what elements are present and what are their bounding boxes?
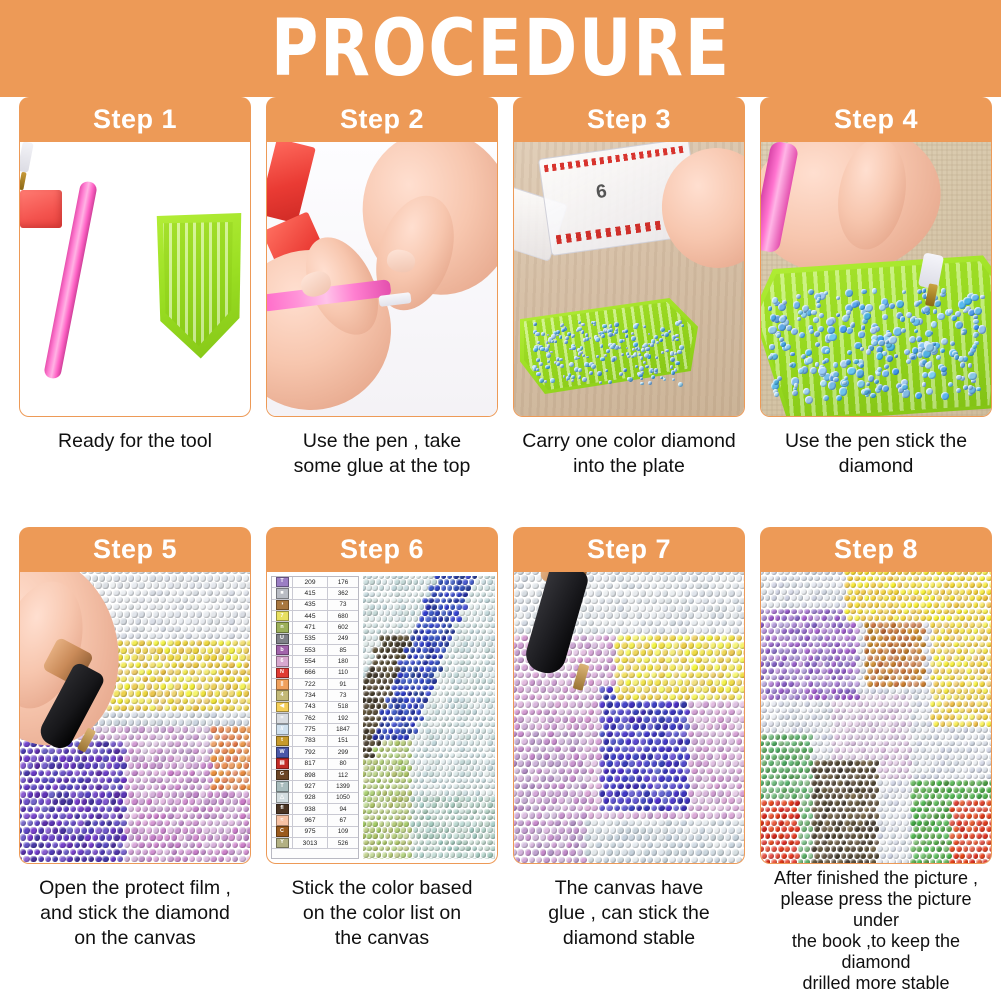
step-card-2[interactable]: Step 2 Use the pen , take some glu: [266, 97, 498, 479]
diamond-bead: [809, 329, 814, 334]
diamond-bead: [601, 334, 605, 338]
diamond-bead: [595, 337, 599, 341]
diamond-bead: [823, 395, 829, 401]
diamond-bead: [790, 352, 794, 356]
diamond-bead: [566, 376, 570, 380]
legend-row: W792299: [272, 747, 358, 758]
legend-symbol-cell: T: [272, 781, 293, 791]
legend-code-cell: 938: [293, 804, 328, 814]
legend-quantity-cell: 80: [328, 759, 358, 769]
diamond-bead: [847, 367, 855, 375]
diamond-bead: [670, 357, 675, 362]
step-7-photo-frame: [513, 572, 745, 864]
diamond-bead: [948, 382, 953, 387]
legend-symbol-swatch: C: [276, 826, 289, 837]
step-1-photo-frame: [19, 142, 251, 417]
legend-symbol-cell: =: [272, 713, 293, 723]
step-7-photo: [514, 572, 744, 863]
diamond-bead: [922, 372, 928, 378]
legend-symbol-swatch: N: [276, 668, 289, 679]
legend-quantity-cell: 192: [328, 713, 358, 723]
legend-row: ◑43573: [272, 600, 358, 611]
legend-symbol-cell: //: [272, 724, 293, 734]
step-card-7[interactable]: Step 7 The canvas have glue , can stick …: [513, 527, 745, 951]
diamond-bead: [659, 338, 663, 342]
legend-symbol-cell: Y: [272, 838, 293, 848]
diamond-bead: [816, 303, 822, 309]
legend-symbol-cell: n: [272, 622, 293, 632]
diamond-bead: [876, 352, 884, 360]
diamond-bead: [900, 316, 906, 322]
diamond-bead: [606, 349, 610, 353]
diamond-bead: [861, 325, 865, 329]
legend-symbol-cell: ■: [272, 588, 293, 598]
diamond-bead: [882, 370, 888, 376]
step-1-photo: [20, 142, 250, 416]
legend-symbol-swatch: △: [276, 792, 289, 803]
legend-quantity-cell: 112: [328, 770, 358, 780]
diamond-bead: [882, 314, 888, 320]
diamond-bead: [884, 364, 889, 369]
diamond-bead: [889, 303, 895, 309]
legend-code-cell: 666: [293, 668, 328, 678]
legend-row: 7445680: [272, 611, 358, 622]
step-4-photo: [761, 142, 991, 416]
legend-quantity-cell: 151: [328, 736, 358, 746]
step-4-header: Step 4: [760, 97, 992, 142]
diamond-bead: [661, 351, 664, 354]
diamond-bead: [980, 295, 985, 300]
legend-quantity-cell: 249: [328, 634, 358, 644]
legend-symbol-swatch: G: [276, 770, 289, 781]
diamond-bead: [963, 297, 971, 305]
diamond-bead: [941, 338, 948, 345]
legend-symbol-swatch: ▤: [276, 758, 289, 769]
diamond-bead: [665, 349, 668, 352]
diamond-bead: [581, 323, 585, 327]
diamond-bead: [842, 381, 846, 385]
diamond-bead: [660, 327, 665, 332]
diamond-bead: [857, 380, 865, 388]
diamond-bead: [591, 364, 596, 369]
diamond-bead: [770, 314, 777, 321]
step-6-caption: Stick the color based on the color list …: [266, 876, 498, 951]
diamond-bead: [936, 355, 941, 360]
diamond-bead: [650, 343, 654, 347]
diamond-bead: [545, 365, 549, 369]
legend-quantity-cell: 67: [328, 815, 358, 825]
legend-code-cell: 445: [293, 611, 328, 621]
legend-code-cell: 928: [293, 793, 328, 803]
legend-symbol-cell: t: [272, 736, 293, 746]
diamond-bead: [954, 354, 959, 359]
diamond-bead: [675, 338, 678, 341]
diamond-bead: [792, 390, 798, 396]
diamond-bead: [818, 367, 826, 375]
legend-row: T9271399: [272, 781, 358, 792]
diamond-bead: [833, 362, 838, 367]
diamond-bead: [815, 342, 820, 347]
diamond-bead: [826, 318, 834, 326]
legend-quantity-cell: 680: [328, 611, 358, 621]
diamond-bead: [618, 346, 621, 349]
steps-row-2: Step 5 Open the protect film , and stick…: [0, 527, 1001, 967]
diamond-bead: [614, 322, 618, 326]
diamond-bead: [851, 301, 858, 308]
step-4-label: Step 4: [834, 104, 918, 135]
diamond-bead: [563, 375, 566, 378]
diamond-bead: [768, 355, 773, 360]
diamond-bead: [674, 368, 678, 372]
legend-quantity-cell: 180: [328, 656, 358, 666]
diamond-bead: [583, 338, 586, 341]
diamond-bead: [675, 334, 678, 337]
legend-symbol-cell: N: [272, 668, 293, 678]
diamond-bead: [581, 330, 584, 333]
diamond-bead: [859, 304, 865, 310]
step-card-1[interactable]: Step 1 Ready for the tool: [19, 97, 251, 454]
diamond-bead: [894, 354, 899, 359]
diamond-bead: [608, 332, 613, 337]
legend-code-cell: 967: [293, 815, 328, 825]
legend-quantity-cell: 602: [328, 622, 358, 632]
step-3-photo-frame: 6: [513, 142, 745, 417]
diamond-bead: [824, 291, 829, 296]
legend-symbol-swatch: t: [276, 736, 289, 747]
diamond-bead: [627, 355, 630, 358]
diamond-bead: [539, 378, 544, 383]
diamond-bead: [870, 327, 877, 334]
legend-code-cell: 435: [293, 600, 328, 610]
legend-code-cell: 762: [293, 713, 328, 723]
step-6-photo-frame: T209176■415362◑435737445680n471602U53524…: [266, 572, 498, 864]
legend-symbol-swatch: =: [276, 713, 289, 724]
diamond-bead: [577, 327, 582, 332]
diamond-bead: [889, 336, 897, 344]
diamond-bead: [536, 358, 540, 362]
step-8-photo-frame: [760, 572, 992, 864]
legend-row: ≈96767: [272, 815, 358, 826]
diamond-bead: [768, 306, 772, 310]
diamond-bead: [906, 359, 911, 364]
diamond-bead: [798, 310, 803, 315]
diamond-bead: [805, 396, 813, 404]
diamond-bead: [872, 288, 877, 293]
diamond-bead: [546, 341, 548, 343]
diamond-bead: [633, 353, 638, 358]
diamond-bead: [940, 348, 945, 353]
diamond-bead: [559, 335, 562, 338]
legend-row: t783151: [272, 736, 358, 747]
diamond-bead: [825, 349, 830, 354]
legend-code-cell: 734: [293, 690, 328, 700]
diamond-bead: [886, 355, 893, 362]
diamond-bead: [664, 332, 669, 337]
legend-code-cell: 553: [293, 645, 328, 655]
diamond-bead: [633, 342, 638, 347]
legend-quantity-cell: 1050: [328, 793, 358, 803]
legend-row: ◀743518: [272, 702, 358, 713]
diamond-bead: [679, 345, 684, 350]
diamond-bead: [536, 372, 541, 377]
diamond-bead: [861, 289, 866, 294]
diamond-bead: [589, 337, 591, 339]
legend-row: T209176: [272, 577, 358, 588]
diamond-bead: [635, 347, 638, 350]
diamond-bead: [858, 331, 864, 337]
steps-grid: Step 1 Ready for the tool Step 2: [0, 97, 1001, 967]
step-card-5[interactable]: Step 5 Open the protect film , and stick…: [19, 527, 251, 951]
diamond-bead: [797, 317, 802, 322]
diamond-bead: [915, 301, 920, 306]
legend-code-cell: 743: [293, 702, 328, 712]
legend-symbol-swatch: fl: [276, 804, 289, 815]
diamond-bead: [972, 344, 977, 349]
diamond-bead: [786, 325, 792, 331]
diamond-bead: [973, 324, 979, 330]
legend-symbol-cell: ≈: [272, 815, 293, 825]
legend-symbol-cell: 7: [272, 611, 293, 621]
diamond-bead: [922, 382, 926, 386]
diamond-bead: [940, 366, 946, 372]
legend-quantity-cell: 1847: [328, 724, 358, 734]
diamond-bead: [672, 378, 675, 381]
diamond-bead: [640, 377, 643, 380]
legend-symbol-swatch: U: [276, 634, 289, 645]
legend-quantity-cell: 73: [328, 690, 358, 700]
legend-code-cell: 817: [293, 759, 328, 769]
diamond-bead: [565, 336, 569, 340]
legend-row: =762192: [272, 713, 358, 724]
step-3-label: Step 3: [587, 104, 671, 135]
diamond-bead: [631, 332, 634, 335]
diamond-bead: [968, 363, 973, 368]
legend-symbol-swatch: T: [276, 577, 289, 588]
diamond-bead: [585, 333, 589, 337]
diamond-bead: [845, 359, 851, 365]
diamond-bead: [536, 368, 539, 371]
legend-symbol-cell: 6: [272, 656, 293, 666]
step-3-caption: Carry one color diamond into the plate: [513, 429, 745, 479]
step-1-header: Step 1: [19, 97, 251, 142]
legend-code-cell: 775: [293, 724, 328, 734]
legend-symbol-cell: △: [272, 793, 293, 803]
diamond-bead: [937, 313, 945, 321]
diamond-bead: [540, 347, 544, 351]
diamond-bead: [803, 388, 810, 395]
diamond-bead: [537, 341, 540, 344]
diamond-bead: [654, 335, 658, 339]
step-card-3[interactable]: Step 3 6 Carry one color diam: [513, 97, 745, 479]
diamond-bead: [896, 300, 904, 308]
diamond-bead: [648, 333, 651, 336]
diamond-bead: [879, 304, 886, 311]
diamond-bead: [928, 371, 936, 379]
diamond-bead: [660, 376, 663, 379]
diamond-bead: [810, 367, 817, 374]
diamond-bead: [822, 360, 826, 364]
diamond-bead: [827, 326, 835, 334]
step-2-label: Step 2: [340, 104, 424, 135]
diamond-bead: [950, 341, 955, 346]
diamond-bead: [774, 392, 779, 397]
diamond-bead: [604, 354, 607, 357]
diamond-bead: [547, 360, 550, 363]
legend-row: N666110: [272, 668, 358, 679]
diamond-bead: [878, 340, 884, 346]
diamond-bead: [768, 326, 776, 334]
diamond-bead: [791, 328, 798, 335]
legend-row: //7751847: [272, 724, 358, 735]
diamond-bead: [544, 380, 547, 383]
step-card-4[interactable]: Step 4 Use the pen stick the diamond: [760, 97, 992, 479]
diamond-bead: [554, 340, 556, 342]
diamond-bead: [655, 356, 658, 359]
diamond-bead: [535, 332, 540, 337]
page-header-banner: PROCEDURE: [0, 0, 1001, 97]
diamond-bead: [816, 299, 820, 303]
legend-code-cell: 471: [293, 622, 328, 632]
legend-row: C975109: [272, 827, 358, 838]
legend-code-cell: 927: [293, 781, 328, 791]
step-6-header: Step 6: [266, 527, 498, 572]
legend-symbol-swatch: W: [276, 747, 289, 758]
diamond-bead: [836, 313, 841, 318]
step-2-photo: [267, 142, 497, 416]
legend-symbol-cell: U: [272, 634, 293, 644]
color-legend-table: T209176■415362◑435737445680n471602U53524…: [271, 576, 359, 859]
diamond-bead: [870, 393, 876, 399]
legend-code-cell: 415: [293, 588, 328, 598]
diamond-bead: [648, 381, 652, 385]
diamond-bead: [625, 334, 628, 337]
diamond-bead: [863, 312, 871, 320]
diamond-bead: [906, 312, 912, 318]
diamond-bead: [593, 321, 595, 323]
step-4-caption: Use the pen stick the diamond: [760, 429, 992, 479]
diamond-bead: [779, 337, 784, 342]
legend-symbol-cell: ▤: [272, 759, 293, 769]
diamond-bead: [856, 369, 864, 377]
diamond-bead: [643, 361, 646, 364]
diamond-bead: [619, 372, 623, 376]
legend-symbol-swatch: 7: [276, 611, 289, 622]
diamond-bead: [611, 357, 616, 362]
legend-symbol-cell: T: [272, 577, 293, 587]
diamond-bead: [901, 384, 907, 390]
diamond-bead: [863, 389, 869, 395]
step-8-photo: [761, 572, 991, 863]
legend-symbol-swatch: ||: [276, 679, 289, 690]
step-1-caption: Ready for the tool: [19, 429, 251, 454]
diamond-bead: [973, 332, 978, 337]
legend-symbol-cell: 4: [272, 690, 293, 700]
legend-quantity-cell: 1399: [328, 781, 358, 791]
legend-symbol-cell: G: [272, 770, 293, 780]
diamond-bead: [541, 332, 545, 336]
diamond-bead: [925, 343, 933, 351]
diamond-bead: [564, 340, 568, 344]
diamond-bead: [623, 368, 627, 372]
diamond-bead: [619, 339, 623, 343]
diamond-bead: [915, 392, 922, 399]
step-3-header: Step 3: [513, 97, 745, 142]
step-card-6[interactable]: Step 6 T209176■415362◑435737445680n47160…: [266, 527, 498, 951]
diamond-bead: [589, 371, 593, 375]
diamond-bead: [910, 317, 915, 322]
diamond-bead: [572, 334, 575, 337]
legend-symbol-swatch: //: [276, 724, 289, 735]
step-6-label: Step 6: [340, 534, 424, 565]
legend-row: Y3013526: [272, 838, 358, 849]
legend-symbol-cell: fl: [272, 804, 293, 814]
diamond-bead: [820, 380, 827, 387]
diamond-bead: [547, 334, 550, 337]
diamond-bead: [926, 388, 933, 395]
legend-code-cell: 535: [293, 634, 328, 644]
step-2-caption: Use the pen , take some glue at the top: [266, 429, 498, 479]
page-title: PROCEDURE: [271, 9, 731, 89]
diamond-bead: [681, 324, 684, 327]
diamond-bead: [955, 311, 961, 317]
legend-symbol-swatch: Y: [276, 838, 289, 849]
legend-row: b55385: [272, 645, 358, 656]
legend-symbol-cell: C: [272, 827, 293, 837]
step-7-header: Step 7: [513, 527, 745, 572]
diamond-bead: [818, 326, 824, 332]
diamond-bead: [976, 387, 980, 391]
diamond-bead: [600, 344, 604, 348]
diamond-bead: [866, 382, 870, 386]
legend-symbol-swatch: n: [276, 622, 289, 633]
legend-row: U535249: [272, 634, 358, 645]
diamond-bead: [782, 300, 787, 305]
diamond-bead: [626, 347, 629, 350]
diamond-bead: [794, 383, 798, 387]
diamond-bead: [845, 289, 853, 297]
diamond-bead: [925, 362, 933, 370]
diamond-bead: [909, 336, 916, 343]
diamond-bead: [546, 353, 551, 358]
step-card-8[interactable]: Step 8 After finished the picture , plea…: [760, 527, 992, 994]
diamond-bead: [769, 344, 774, 349]
diamond-bead: [847, 350, 852, 355]
diamond-bead: [560, 364, 564, 368]
diamond-bead: [579, 351, 582, 354]
diamond-bead: [902, 290, 906, 294]
diamond-bead: [597, 371, 602, 376]
diamond-bead: [670, 365, 673, 368]
diamond-bead: [934, 300, 941, 307]
legend-quantity-cell: 362: [328, 588, 358, 598]
diamond-bead: [641, 371, 644, 374]
diamond-bead: [639, 366, 644, 371]
step-5-caption: Open the protect film , and stick the di…: [19, 876, 251, 951]
diamond-bead: [866, 349, 871, 354]
legend-row: G898112: [272, 770, 358, 781]
diamond-bead: [645, 365, 649, 369]
diamond-bead: [569, 362, 574, 367]
step-4-photo-frame: [760, 142, 992, 417]
legend-quantity-cell: 176: [328, 577, 358, 587]
legend-symbol-cell: ◀: [272, 702, 293, 712]
legend-row: 473473: [272, 690, 358, 701]
diamond-bead: [578, 375, 581, 378]
legend-row: fl93894: [272, 804, 358, 815]
legend-code-cell: 3013: [293, 838, 328, 848]
diamond-bead: [584, 362, 589, 367]
diamond-bead: [960, 362, 966, 368]
